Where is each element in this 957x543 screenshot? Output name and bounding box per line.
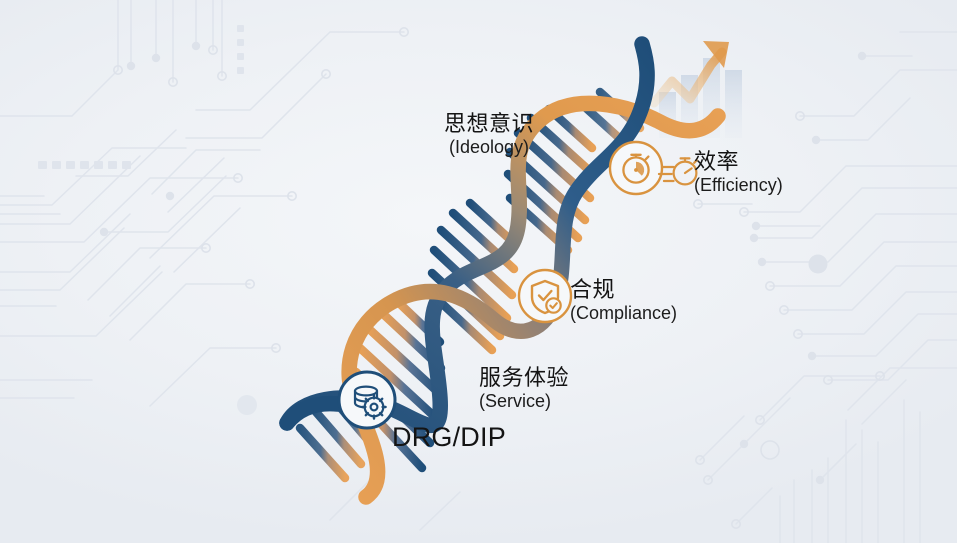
label-efficiency: 效率 (Efficiency) xyxy=(694,150,783,195)
label-compliance-cn: 合规 xyxy=(570,278,677,303)
label-drgdip-text: DRG/DIP xyxy=(392,422,506,452)
label-ideology: 思想意识 (Ideology) xyxy=(444,112,534,157)
label-layer: 思想意识 (Ideology) 效率 (Efficiency) 合规 (Comp… xyxy=(0,0,957,543)
label-ideology-cn: 思想意识 xyxy=(444,112,534,137)
label-service: 服务体验 (Service) xyxy=(479,366,569,411)
label-efficiency-cn: 效率 xyxy=(694,150,783,175)
infographic-canvas: 思想意识 (Ideology) 效率 (Efficiency) 合规 (Comp… xyxy=(0,0,957,543)
label-ideology-en: (Ideology) xyxy=(444,137,534,157)
label-efficiency-en: (Efficiency) xyxy=(694,175,783,195)
label-service-cn: 服务体验 xyxy=(479,366,569,391)
label-compliance-en: (Compliance) xyxy=(570,303,677,323)
label-drgdip: DRG/DIP xyxy=(392,422,506,452)
label-compliance: 合规 (Compliance) xyxy=(570,278,677,323)
label-service-en: (Service) xyxy=(479,391,569,411)
